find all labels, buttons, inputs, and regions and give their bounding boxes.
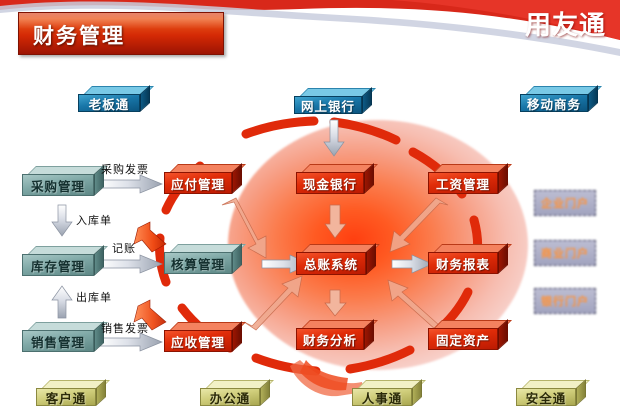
module-label: 固定资产 [428,328,498,350]
module-box-security-link[interactable]: 安全通 [516,380,586,406]
module-box-laobantong[interactable]: 老板通 [78,86,150,112]
module-label: 客户通 [36,388,96,406]
module-label: 办公通 [200,388,260,406]
module-box-accounts-receivable[interactable]: 应收管理 [164,322,242,352]
module-box-accounts-payable[interactable]: 应付管理 [164,164,242,194]
module-box-online-bank[interactable]: 网上银行 [294,88,372,114]
module-label: 安全通 [516,388,576,406]
module-label: 移动商务 [520,94,588,112]
portal-label: 银行门户 [541,293,589,309]
module-box-cost-accounting[interactable]: 核算管理 [164,244,242,274]
page-title-plate: 财务管理 [18,12,224,55]
module-box-mobile-commerce[interactable]: 移动商务 [520,86,598,112]
module-label: 现金银行 [296,172,364,194]
module-label: 应付管理 [164,172,232,194]
module-label: 老板通 [78,94,140,112]
diagram-canvas: 财务管理 用友通 [0,0,620,418]
page-title: 财务管理 [33,20,125,50]
module-label: 人事通 [352,388,412,406]
module-label: 网上银行 [294,96,362,114]
module-box-payroll[interactable]: 工资管理 [428,164,508,194]
module-box-procurement[interactable]: 采购管理 [22,166,104,196]
module-box-financial-analysis[interactable]: 财务分析 [296,320,374,350]
module-label: 工资管理 [428,172,498,194]
module-label: 库存管理 [22,254,94,276]
module-label: 应收管理 [164,330,232,352]
module-box-cash-bank[interactable]: 现金银行 [296,164,374,194]
module-box-office-link[interactable]: 办公通 [200,380,270,406]
flow-label-purchase-invoice: 采购发票 [101,161,149,177]
module-label: 财务分析 [296,328,364,350]
module-box-fixed-assets[interactable]: 固定资产 [428,320,508,350]
brand-logo: 用友通 [525,5,606,42]
portal-label: 商业门户 [541,245,589,261]
portal-box-business[interactable]: 商业门户 [534,240,596,266]
flow-label-stock-out: 出库单 [76,289,112,305]
module-label: 采购管理 [22,174,94,196]
module-box-general-ledger[interactable]: 总账系统 [296,244,376,275]
module-label: 核算管理 [164,252,232,274]
flow-label-stock-in: 入库单 [76,212,112,228]
module-box-customer-link[interactable]: 客户通 [36,380,106,406]
module-box-inventory[interactable]: 库存管理 [22,246,104,276]
portal-box-enterprise[interactable]: 企业门户 [534,190,596,216]
flow-label-bookkeeping: 记账 [112,240,136,256]
module-box-hr-link[interactable]: 人事通 [352,380,422,406]
module-box-sales[interactable]: 销售管理 [22,322,104,352]
module-label: 财务报表 [428,252,498,274]
flow-label-sales-invoice: 销售发票 [101,320,149,336]
module-label: 销售管理 [22,330,94,352]
portal-label: 企业门户 [541,195,589,211]
module-box-financial-reports[interactable]: 财务报表 [428,244,508,274]
portal-box-bank[interactable]: 银行门户 [534,288,596,314]
module-label: 总账系统 [296,252,366,275]
